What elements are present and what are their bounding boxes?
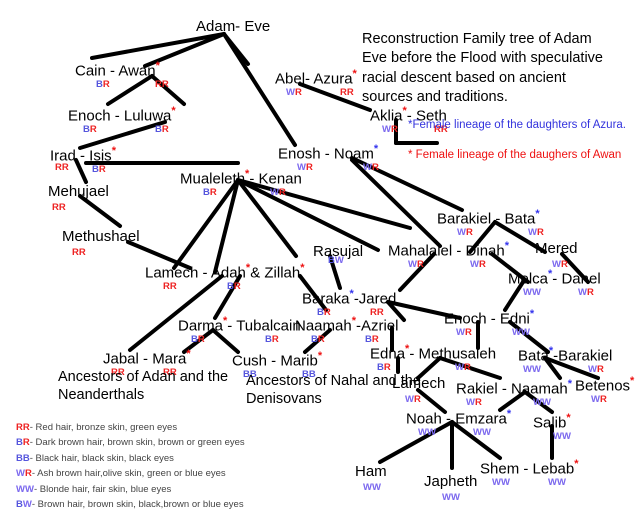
race-code-tag: WW xyxy=(548,478,566,488)
legend-description: - Ash brown hair,olive skin, green or bl… xyxy=(32,468,226,479)
node-name-suffix: -Barakiel xyxy=(553,347,612,364)
node-name: Barakiel - Bata xyxy=(437,210,535,227)
race-code-letter: W xyxy=(473,427,482,438)
legend-code: WW xyxy=(16,484,34,495)
tree-edge xyxy=(238,180,378,250)
legend-description: - Brown hair, brown skin, black,brown or… xyxy=(32,499,244,510)
asterisk-icon: * xyxy=(530,308,534,320)
tree-node-melca_danel[interactable]: Melca*- Danel xyxy=(508,268,601,288)
race-code-letter: W xyxy=(532,287,541,298)
legend-row: BB- Black hair, black skin, black eyes xyxy=(16,451,245,466)
tree-edge xyxy=(92,34,224,58)
race-code-letter: R xyxy=(198,334,205,345)
tree-node-betenos[interactable]: Betenos* xyxy=(575,375,634,395)
race-code-letter: B xyxy=(191,334,198,345)
tree-edge xyxy=(224,34,248,64)
race-code-letter: R xyxy=(103,79,110,90)
race-code-letter: W xyxy=(455,362,464,373)
legend-code: WR xyxy=(16,468,32,479)
family-tree-diagram: Adam- EveCain - Awan*BRRRAbel- Azura*WRR… xyxy=(0,0,640,520)
asterisk-icon: * xyxy=(156,60,160,72)
race-code-letter: B xyxy=(265,334,272,345)
annotation-adan-text: Ancestors of Adan and the Neanderthals xyxy=(58,369,228,403)
race-code-letter: W xyxy=(335,255,344,266)
race-code-letter: W xyxy=(372,482,381,493)
race-code-letter: W xyxy=(591,394,600,405)
race-code-tag: WR xyxy=(286,88,302,98)
race-code-letter: W xyxy=(578,287,587,298)
node-name-suffix: & Zillah xyxy=(250,264,300,281)
tree-node-naamah_azriel[interactable]: Naamah*-Azriel xyxy=(295,315,399,335)
tree-node-salib[interactable]: Salib* xyxy=(533,412,571,432)
title-line-4: sources and traditions. xyxy=(362,88,632,107)
node-name: Enosh - Noam xyxy=(278,145,374,162)
tree-node-darma_tubalcain[interactable]: Darma*- Tubalcain xyxy=(178,315,301,335)
race-code-tag: WR xyxy=(578,288,594,298)
race-code-tag: BR xyxy=(83,125,97,135)
race-code-letter: R xyxy=(372,162,379,173)
race-code-letter: R xyxy=(537,227,544,238)
race-code-tag: RR xyxy=(163,282,177,292)
legend-description: - Blonde hair, fair skin, blue eyes xyxy=(34,484,171,495)
race-code-letter: B xyxy=(328,255,335,266)
race-code-tag: RR xyxy=(52,203,66,213)
node-name: Mered xyxy=(535,240,578,257)
node-name: Japheth xyxy=(424,473,477,490)
race-code-letter: R xyxy=(417,259,424,270)
race-code-letter: W xyxy=(451,492,460,503)
legend-code: RR xyxy=(16,422,30,433)
legend-row: WW- Blonde hair, fair skin, blue eyes xyxy=(16,482,245,497)
title-line-2: Eve before the Flood with speculative xyxy=(362,49,632,68)
node-name: Aklia xyxy=(370,107,403,124)
tree-node-cush_marib[interactable]: Cush - Marib* xyxy=(232,350,322,370)
race-code-letter: R xyxy=(234,281,241,292)
node-name: Abel- Azura xyxy=(275,70,353,87)
race-code-letter: W xyxy=(523,287,532,298)
race-code-tag: WR xyxy=(382,125,398,135)
node-name-suffix: - Methusaleh xyxy=(409,345,496,362)
race-code-letter: W xyxy=(553,431,562,442)
node-name-suffix: -Jared xyxy=(354,290,397,307)
race-code-letter: R xyxy=(72,247,79,258)
race-code-letter: W xyxy=(548,477,557,488)
race-code-tag: WW xyxy=(442,493,460,503)
race-code-letter: R xyxy=(587,287,594,298)
race-code-letter: W xyxy=(562,431,571,442)
race-code-letter: B xyxy=(227,281,234,292)
node-name: Cush - Marib xyxy=(232,352,318,369)
race-code-tag: WR xyxy=(408,260,424,270)
race-code-letter: R xyxy=(318,334,325,345)
race-code-letter: B xyxy=(92,164,99,175)
node-name: Adam- Eve xyxy=(196,18,270,35)
race-code-letter: B xyxy=(96,79,103,90)
tree-node-mered[interactable]: Mered xyxy=(535,240,578,258)
node-name: Lamech - Adah xyxy=(145,264,246,281)
race-code-letter: B xyxy=(203,187,210,198)
tree-edge xyxy=(215,180,238,272)
race-code-tag: WW xyxy=(512,328,530,338)
race-code-tag: RR xyxy=(72,248,86,258)
node-name-suffix: - Danel xyxy=(552,270,600,287)
asterisk-icon: * xyxy=(300,262,304,274)
node-name: Enoch - Edni xyxy=(444,310,530,327)
race-code-letter: W xyxy=(408,259,417,270)
race-code-letter: R xyxy=(464,362,471,373)
asterisk-icon: * xyxy=(566,412,570,424)
race-code-letter: R xyxy=(475,397,482,408)
asterisk-icon: * xyxy=(535,208,539,220)
race-code-letter: B xyxy=(83,124,90,135)
annotation-nahal-text: Ancestors of Nahal and the Denisovans xyxy=(246,373,421,407)
race-code-letter: R xyxy=(55,162,62,173)
race-code-tag: WW xyxy=(363,483,381,493)
node-name: Rakiel - Naamah xyxy=(456,380,568,397)
tree-edge xyxy=(238,180,296,256)
asterisk-icon: * xyxy=(353,68,357,80)
race-code-letter: R xyxy=(155,79,162,90)
race-code-tag: BR xyxy=(96,80,110,90)
race-code-tag: WR xyxy=(270,188,286,198)
legend-code: BR xyxy=(16,437,30,448)
tree-node-enoch_edni[interactable]: Enoch - Edni* xyxy=(444,308,534,328)
race-code-letter: W xyxy=(542,397,551,408)
tree-node-baraka_jared[interactable]: Baraka*-Jared xyxy=(302,288,396,308)
race-code-tag: WW xyxy=(523,365,541,375)
tree-node-lamech_adah_zillah[interactable]: Lamech - Adah*& Zillah* xyxy=(145,262,305,282)
node-name: Baraka xyxy=(302,290,350,307)
race-code-letter: W xyxy=(532,364,541,375)
race-code-letter: R xyxy=(295,87,302,98)
race-code-letter: W xyxy=(521,327,530,338)
race-code-letter: W xyxy=(470,259,479,270)
race-code-tag: WR xyxy=(588,365,604,375)
race-code-letter: W xyxy=(382,124,391,135)
asterisk-icon: * xyxy=(318,350,322,362)
node-name-suffix: - Tubalcain xyxy=(227,317,300,334)
node-name: Mehujael xyxy=(48,183,109,200)
race-code-tag: WW xyxy=(473,428,491,438)
annotation-ancestors-adan: Ancestors of Adan and the Neanderthals xyxy=(58,368,233,404)
tree-edge xyxy=(224,34,295,145)
race-code-letter: W xyxy=(363,162,372,173)
race-code-letter: W xyxy=(456,327,465,338)
race-code-tag: BR xyxy=(191,335,205,345)
legend-row: BR- Dark brown hair, brown skin, brown o… xyxy=(16,435,245,450)
race-code-tag: WR xyxy=(457,228,473,238)
legend-code: BW xyxy=(16,499,32,510)
race-code-letter: R xyxy=(99,164,106,175)
node-name: Betenos xyxy=(575,377,630,394)
race-code-letter: W xyxy=(270,187,279,198)
race-code-letter: B xyxy=(311,334,318,345)
race-code-tag: BR xyxy=(92,165,106,175)
tree-node-mahalalel_dinah[interactable]: Mahalalel - Dinah* xyxy=(388,240,509,260)
tree-node-edna_methusaleh[interactable]: Edna*- Methusaleh xyxy=(370,343,496,363)
race-code-letter: W xyxy=(442,492,451,503)
node-name: Naamah xyxy=(295,317,352,334)
race-code-letter: R xyxy=(465,327,472,338)
race-code-letter: W xyxy=(286,87,295,98)
race-code-letter: W xyxy=(418,427,427,438)
race-code-tag: WW xyxy=(492,478,510,488)
note-awan-lineage: * Female lineage of the daughers of Awan xyxy=(408,148,636,162)
race-code-letter: W xyxy=(427,427,436,438)
race-code-letter: R xyxy=(597,364,604,375)
race-code-tag: BR xyxy=(265,335,279,345)
race-code-letter: W xyxy=(482,427,491,438)
asterisk-icon: * xyxy=(374,143,378,155)
race-code-letter: W xyxy=(466,397,475,408)
race-code-letter: W xyxy=(512,327,521,338)
race-code-letter: W xyxy=(363,482,372,493)
node-name: Ham xyxy=(355,463,387,480)
race-code-tag: RR xyxy=(340,88,354,98)
race-code-letter: R xyxy=(162,124,169,135)
node-name: Darma xyxy=(178,317,223,334)
node-name: Methushael xyxy=(62,228,140,245)
race-code-tag: WR xyxy=(456,328,472,338)
tree-node-jabal_mara[interactable]: Jabal - Mara* xyxy=(103,348,191,368)
race-code-letter: W xyxy=(492,477,501,488)
legend-row: WR- Ash brown hair,olive skin, green or … xyxy=(16,466,245,481)
legend: RR- Red hair, bronze skin, green eyesBR-… xyxy=(16,420,245,512)
race-code-tag: WR xyxy=(591,395,607,405)
node-name: Bata xyxy=(518,347,549,364)
race-code-letter: R xyxy=(306,162,313,173)
race-code-letter: R xyxy=(170,281,177,292)
node-name: Cain - Awan xyxy=(75,62,156,79)
asterisk-icon: * xyxy=(186,348,190,360)
race-code-letter: B xyxy=(155,124,162,135)
race-code-tag: WR xyxy=(455,363,471,373)
tree-node-cain_awan[interactable]: Cain - Awan* xyxy=(75,60,160,80)
tree-node-enosh_noam[interactable]: Enosh - Noam* xyxy=(278,143,378,163)
race-code-tag: BW xyxy=(328,256,344,266)
node-name: Salib xyxy=(533,414,566,431)
race-code-letter: R xyxy=(391,124,398,135)
race-code-tag: BR xyxy=(227,282,241,292)
tree-node-ham[interactable]: Ham xyxy=(355,463,387,481)
node-name: Edna xyxy=(370,345,405,362)
race-code-letter: R xyxy=(59,202,66,213)
tree-node-adam_eve[interactable]: Adam- Eve xyxy=(196,18,270,36)
tree-node-enoch_luluwa[interactable]: Enoch - Luluwa* xyxy=(68,105,176,125)
legend-description: - Black hair, black skin, black eyes xyxy=(30,453,174,464)
tree-node-rakiel_naamah[interactable]: Rakiel - Naamah* xyxy=(456,378,572,398)
title-line-3: racial descent based on ancient xyxy=(362,69,632,88)
race-code-letter: R xyxy=(347,87,354,98)
race-code-tag: BR xyxy=(155,125,169,135)
node-name: Enoch - Luluwa xyxy=(68,107,171,124)
node-name: Noah - Emzara xyxy=(406,410,507,427)
race-code-tag: WW xyxy=(553,432,571,442)
race-code-letter: R xyxy=(340,87,347,98)
race-code-letter: R xyxy=(163,281,170,292)
race-code-tag: RR xyxy=(155,80,169,90)
race-code-letter: R xyxy=(466,227,473,238)
race-code-letter: R xyxy=(79,247,86,258)
asterisk-icon: * xyxy=(505,240,509,252)
tree-node-bata_barakiel[interactable]: Bata*-Barakiel xyxy=(518,345,612,365)
race-code-letter: W xyxy=(501,477,510,488)
note-azura-lineage: *Female lineage of the daughters of Azur… xyxy=(408,118,636,132)
tree-node-abel_azura[interactable]: Abel- Azura* xyxy=(275,68,357,88)
race-code-letter: R xyxy=(279,187,286,198)
race-code-tag: WR xyxy=(528,228,544,238)
race-code-tag: WR xyxy=(466,398,482,408)
race-code-letter: W xyxy=(528,227,537,238)
asterisk-icon: * xyxy=(112,145,116,157)
diagram-title: Reconstruction Family tree of Adam Eve b… xyxy=(362,30,632,107)
legend-row: BW- Brown hair, brown skin, black,brown … xyxy=(16,497,245,512)
race-code-tag: WW xyxy=(418,428,436,438)
asterisk-icon: * xyxy=(568,378,572,390)
race-code-letter: W xyxy=(588,364,597,375)
asterisk-icon: * xyxy=(630,375,634,387)
race-code-tag: WW xyxy=(533,398,551,408)
asterisk-icon: * xyxy=(171,105,175,117)
legend-row: RR- Red hair, bronze skin, green eyes xyxy=(16,420,245,435)
node-name-suffix: - Kenan xyxy=(249,170,302,187)
title-line-1: Reconstruction Family tree of Adam xyxy=(362,30,632,49)
tree-node-mehujael[interactable]: Mehujael xyxy=(48,183,109,201)
legend-description: - Red hair, bronze skin, green eyes xyxy=(30,422,177,433)
race-code-tag: BR xyxy=(311,335,325,345)
race-code-letter: R xyxy=(90,124,97,135)
tree-node-mualeleth_kenan[interactable]: Mualeleth*- Kenan xyxy=(180,168,302,188)
race-code-letter: W xyxy=(523,364,532,375)
node-name: Jabal - Mara xyxy=(103,350,186,367)
node-name-suffix: -Azriel xyxy=(356,317,399,334)
race-code-letter: R xyxy=(62,162,69,173)
race-code-letter: R xyxy=(479,259,486,270)
race-code-letter: W xyxy=(557,477,566,488)
node-name: Shem - Lebab xyxy=(480,460,574,477)
tree-node-noah_emzara[interactable]: Noah - Emzara* xyxy=(406,408,511,428)
node-name: Mualeleth xyxy=(180,170,245,187)
tree-node-barakiel_bata[interactable]: Barakiel - Bata* xyxy=(437,208,540,228)
tree-node-shem_lebab[interactable]: Shem - Lebab* xyxy=(480,458,579,478)
legend-description: - Dark brown hair, brown skin, brown or … xyxy=(30,437,245,448)
race-code-tag: BR xyxy=(203,188,217,198)
race-code-letter: R xyxy=(52,202,59,213)
annotation-ancestors-nahal: Ancestors of Nahal and the Denisovans xyxy=(246,372,421,408)
tree-node-methushael[interactable]: Methushael xyxy=(62,228,140,246)
legend-code: BB xyxy=(16,453,30,464)
race-code-letter: W xyxy=(533,397,542,408)
node-name: Mahalalel - Dinah xyxy=(388,242,505,259)
asterisk-icon: * xyxy=(574,458,578,470)
race-code-letter: R xyxy=(210,187,217,198)
tree-node-japheth[interactable]: Japheth xyxy=(424,473,477,491)
race-code-tag: WW xyxy=(523,288,541,298)
race-code-tag: WR xyxy=(363,163,379,173)
race-code-tag: RR xyxy=(55,163,69,173)
race-code-letter: R xyxy=(272,334,279,345)
node-name: Melca xyxy=(508,270,548,287)
asterisk-icon: * xyxy=(507,408,511,420)
race-code-letter: R xyxy=(600,394,607,405)
race-code-letter: W xyxy=(457,227,466,238)
race-code-tag: WR xyxy=(470,260,486,270)
race-code-letter: R xyxy=(162,79,169,90)
